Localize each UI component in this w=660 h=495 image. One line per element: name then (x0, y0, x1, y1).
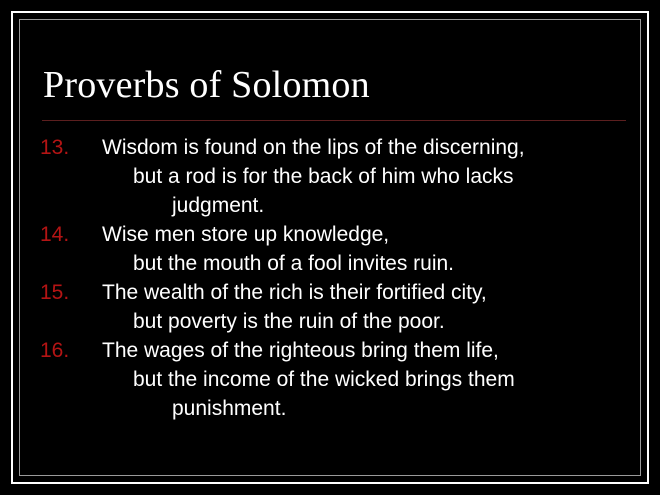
verse-text-line: but the income of the wicked brings them (0, 365, 660, 394)
verse-text-line: The wealth of the rich is their fortifie… (0, 278, 660, 307)
verse-text-line: but a rod is for the back of him who lac… (0, 162, 660, 191)
verse-text-block: Wisdom is found on the lips of the disce… (0, 133, 660, 220)
verse-text-line: judgment. (0, 191, 660, 220)
slide-title: Proverbs of Solomon (43, 62, 370, 108)
verse-text-line: Wise men store up knowledge, (0, 220, 660, 249)
verse-text-block: Wise men store up knowledge,but the mout… (0, 220, 660, 278)
verse-number: 13. (40, 133, 96, 162)
verse-item: 13.Wisdom is found on the lips of the di… (0, 133, 660, 220)
verse-text-line: The wages of the righteous bring them li… (0, 336, 660, 365)
title-divider-rule (42, 120, 626, 121)
verse-text-line: Wisdom is found on the lips of the disce… (0, 133, 660, 162)
verse-number: 16. (40, 336, 96, 365)
verse-item: 16.The wages of the righteous bring them… (0, 336, 660, 423)
slide-canvas: Proverbs of Solomon 13.Wisdom is found o… (0, 0, 660, 495)
verse-number: 14. (40, 220, 96, 249)
verse-item: 14.Wise men store up knowledge,but the m… (0, 220, 660, 278)
verse-text-block: The wages of the righteous bring them li… (0, 336, 660, 423)
verse-text-line: punishment. (0, 394, 660, 423)
verse-text-block: The wealth of the rich is their fortifie… (0, 278, 660, 336)
verse-item: 15.The wealth of the rich is their forti… (0, 278, 660, 336)
verse-list: 13.Wisdom is found on the lips of the di… (0, 133, 660, 423)
verse-text-line: but poverty is the ruin of the poor. (0, 307, 660, 336)
verse-text-line: but the mouth of a fool invites ruin. (0, 249, 660, 278)
verse-number: 15. (40, 278, 96, 307)
